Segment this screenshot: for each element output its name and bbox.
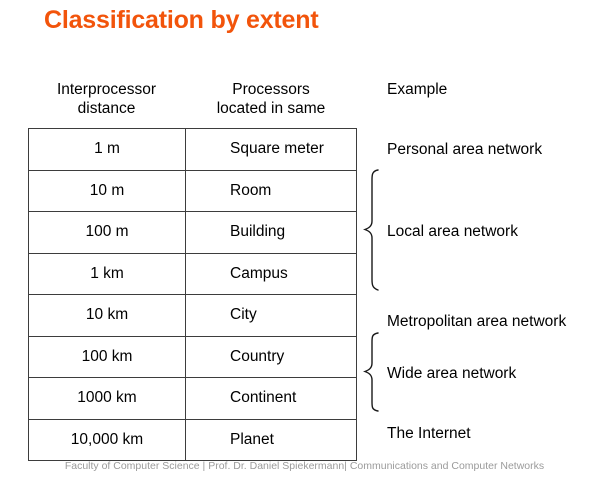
cell-located-in: Campus	[186, 253, 357, 295]
table-row: 100 m Building	[29, 212, 357, 254]
table-row: 10 km City	[29, 295, 357, 337]
cell-distance: 100 km	[29, 336, 186, 378]
cell-located-in: Planet	[186, 419, 357, 461]
cell-distance: 1 m	[29, 129, 186, 171]
cell-located-in: City	[186, 295, 357, 337]
classification-table: 1 m Square meter 10 m Room 100 m Buildin…	[28, 128, 357, 461]
cell-distance: 1 km	[29, 253, 186, 295]
cell-distance: 10 km	[29, 295, 186, 337]
column-header-example: Example	[387, 80, 587, 99]
example-label-wide-area-network: Wide area network	[387, 365, 516, 383]
example-label-local-area-network: Local area network	[387, 223, 518, 241]
cell-located-in: Room	[186, 170, 357, 212]
example-label-the-internet: The Internet	[387, 425, 471, 443]
table-row: 10,000 km Planet	[29, 419, 357, 461]
table-row: 1 m Square meter	[29, 129, 357, 171]
cell-distance: 100 m	[29, 212, 186, 254]
table-row: 10 m Room	[29, 170, 357, 212]
cell-distance: 1000 km	[29, 378, 186, 420]
example-label-personal-area-network: Personal area network	[387, 141, 542, 159]
table-row: 100 km Country	[29, 336, 357, 378]
curly-brace-icon-wide-area-network	[362, 331, 384, 413]
column-header-interprocessor-distance: Interprocessor distance	[28, 80, 185, 118]
page-title: Classification by extent	[44, 6, 318, 35]
cell-located-in: Continent	[186, 378, 357, 420]
column-header-processors-located-in-same: Processors located in same	[185, 80, 357, 118]
table-row: 1 km Campus	[29, 253, 357, 295]
cell-located-in: Country	[186, 336, 357, 378]
example-label-metropolitan-area-network: Metropolitan area network	[387, 313, 566, 331]
slide-footer: Faculty of Computer Science | Prof. Dr. …	[0, 460, 609, 472]
curly-brace-icon-local-area-network	[362, 168, 384, 292]
cell-located-in: Square meter	[186, 129, 357, 171]
cell-located-in: Building	[186, 212, 357, 254]
cell-distance: 10 m	[29, 170, 186, 212]
table-row: 1000 km Continent	[29, 378, 357, 420]
cell-distance: 10,000 km	[29, 419, 186, 461]
